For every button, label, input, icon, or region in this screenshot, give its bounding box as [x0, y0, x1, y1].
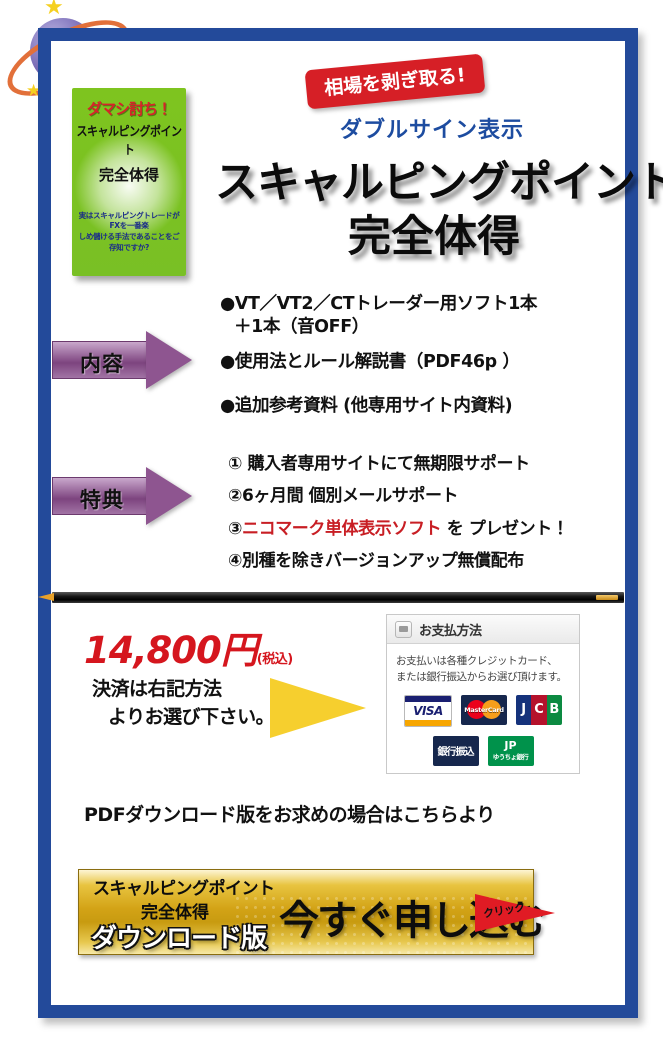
order-now-button[interactable]: スキャルピングポイント 完全体得 ダウンロード版 今すぐ申し込む クリック [78, 869, 534, 955]
bonus-list: ① 購入者専用サイトにて無期限サポート ②6ヶ月間 個別メールサポート ③ニコマ… [228, 448, 568, 577]
bonus-item-1: ① [228, 454, 248, 474]
bonus-item-4: ④ [228, 551, 242, 571]
bank-logo-row: 銀行振込 JP ゆうちょ銀行 [387, 736, 579, 766]
arrow-head-icon [146, 467, 192, 525]
payment-instruction: 決済は右記方法 よりお選び下さい。 [92, 676, 274, 731]
visa-top-bar [405, 696, 451, 702]
jcb-letter-j: J [516, 695, 531, 725]
mastercard-logo-icon: MasterCard [461, 695, 507, 725]
list-item: ●VT／VT2／CTトレーダー用ソフト1本 [220, 293, 537, 316]
bonus-item-4-text: 別種を除きバージョンアップ無償配布 [242, 551, 524, 571]
headline-subtitle: ダブルサイン表示 [0, 112, 649, 144]
arrow-head-icon [146, 331, 192, 389]
payment-instruction-line2: よりお選び下さい。 [92, 704, 274, 732]
list-item: ③ニコマーク単体表示ソフト を プレゼント！ [228, 513, 568, 545]
mastercard-label: MasterCard [464, 706, 503, 714]
visa-logo-icon: VISA [404, 695, 452, 727]
visa-bottom-bar [405, 720, 451, 726]
contents-label: 内容 [62, 348, 142, 378]
jcb-logo-icon: J C B [516, 695, 562, 725]
contents-list: ●VT／VT2／CTトレーダー用ソフト1本 ＋1本（音OFF） ●使用法とルール… [220, 293, 537, 418]
payment-box-description: お支払いは各種クレジットカード、 または銀行振込からお選び頂けます。 [387, 644, 579, 686]
list-item: ●使用法とルール解説書（PDF46p ） [220, 351, 537, 374]
price-tax-note: (税込) [257, 652, 293, 667]
section-divider [52, 592, 624, 603]
bonus-item-3: ③ [228, 519, 242, 539]
page-title-line1: スキャルピングポイント [0, 148, 653, 210]
page-title-line2: 完全体得 [0, 202, 653, 264]
payment-methods-box: お支払方法 お支払いは各種クレジットカード、 または銀行振込からお選び頂けます。… [386, 614, 580, 774]
bank-transfer-logo-icon: 銀行振込 [433, 736, 479, 766]
cart-icon [395, 621, 412, 638]
sales-page: ★ ★ ★ ダマシ討ち！ スキャルピングポイント 完全体得 実はスキャルピングト… [0, 0, 663, 1044]
payment-instruction-line1: 決済は右記方法 [92, 678, 222, 700]
bonus-arrow-label: 特典 [52, 467, 202, 525]
cta-product-line1: スキャルピングポイント [93, 874, 275, 899]
payment-box-title: お支払方法 [419, 620, 482, 639]
price-display: 14,800円(税込) [84, 620, 293, 674]
price-amount: 14,800円 [84, 629, 257, 672]
yucho-bank-logo-icon: JP ゆうちょ銀行 [488, 736, 534, 766]
jcb-letter-c: C [531, 695, 546, 725]
card-logo-row: VISA MasterCard J C B [387, 695, 579, 727]
list-item: ④別種を除きバージョンアップ無償配布 [228, 545, 568, 577]
list-item: ②6ヶ月間 個別メールサポート [228, 480, 568, 512]
payment-desc-line1: お支払いは各種クレジットカード、 [396, 655, 557, 667]
list-item: ＋1本（音OFF） [220, 316, 537, 339]
bonus-item-3-tail: を プレゼント！ [441, 519, 568, 539]
star-icon: ★ [44, 0, 64, 19]
bonus-item-1-text: 購入者専用サイトにて無期限サポート [248, 454, 530, 474]
cta-product-line3: ダウンロード版 [91, 918, 266, 955]
payment-box-header: お支払方法 [387, 615, 579, 644]
list-item: ●追加参考資料 (他専用サイト内資料) [220, 395, 537, 418]
yucho-jp-mark: JP [504, 740, 516, 751]
yucho-label: ゆうちょ銀行 [493, 751, 528, 761]
yellow-arrow-icon [270, 678, 366, 738]
contents-arrow-label: 内容 [52, 331, 202, 389]
bonus-label: 特典 [62, 484, 142, 514]
list-item: ① 購入者専用サイトにて無期限サポート [228, 448, 568, 480]
bonus-item-3-highlight: ニコマーク単体表示ソフト [242, 519, 441, 539]
pdf-download-note: PDFダウンロード版をお求めの場合はこちらより [84, 800, 495, 827]
visa-label: VISA [413, 704, 443, 718]
bonus-item-2: ② [228, 486, 242, 506]
bonus-item-2-text: 6ヶ月間 個別メールサポート [242, 486, 458, 506]
payment-desc-line2: または銀行振込からお選び頂けます。 [396, 671, 567, 683]
jcb-letter-b: B [547, 695, 562, 725]
